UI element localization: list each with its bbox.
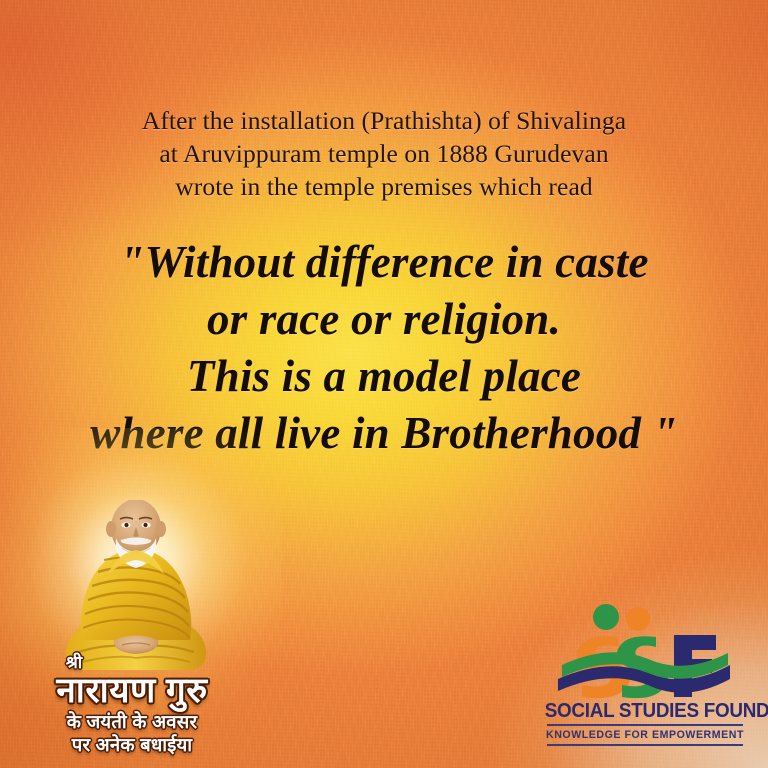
logo-head-green-icon — [593, 604, 619, 630]
hindi-greeting-line-2: पर अनेक बधाईया — [14, 733, 250, 756]
logo-organization-name: SOCIAL STUDIES FOUNDATION — [545, 699, 746, 722]
hindi-name-text: नारायण गुरु — [14, 671, 250, 710]
quote-line-3: This is a model place — [0, 348, 768, 405]
intro-paragraph: After the installation (Prathishta) of S… — [0, 104, 768, 203]
logo-tagline: KNOWLEDGE FOR EMPOWERMENT — [536, 729, 754, 741]
ssf-monogram-icon — [556, 603, 734, 699]
poster-canvas: After the installation (Prathishta) of S… — [0, 0, 768, 768]
ssf-logo: SOCIAL STUDIES FOUNDATION KNOWLEDGE FOR … — [536, 603, 754, 746]
logo-head-orange-icon — [626, 607, 650, 631]
quote-line-2: or race or religion. — [0, 291, 768, 348]
logo-divider-top — [547, 724, 743, 726]
quote-line-1: "Without difference in caste — [0, 234, 768, 291]
poster-content: After the installation (Prathishta) of S… — [0, 0, 768, 768]
hindi-greeting-block: श्री नारायण गुरु के जयंती के अवसर पर अने… — [14, 654, 250, 756]
hindi-sri-text: श्री — [0, 654, 250, 671]
hindi-greeting-line-1: के जयंती के अवसर — [14, 710, 250, 733]
logo-divider-bottom — [547, 744, 743, 746]
